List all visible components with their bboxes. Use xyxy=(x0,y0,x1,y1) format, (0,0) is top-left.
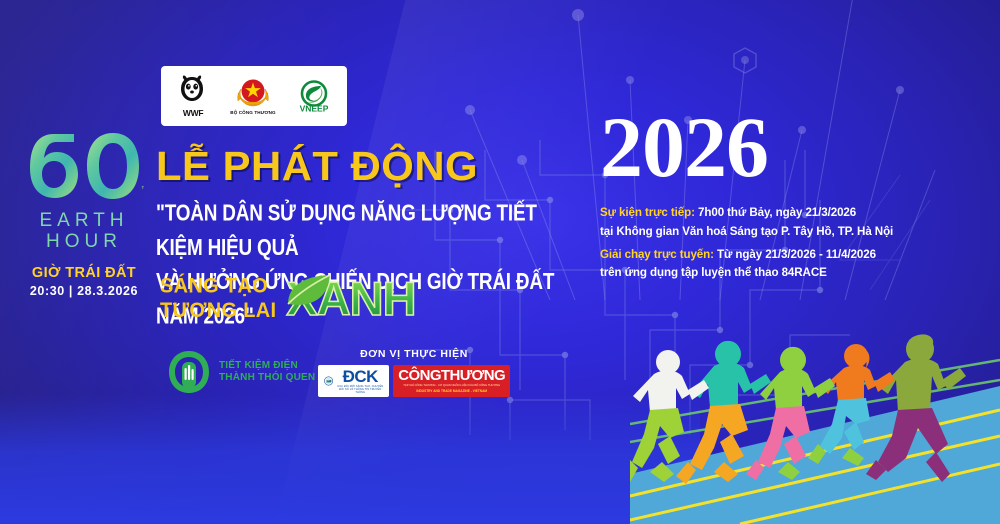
organizers-logo-row: ĐCK ĐCK CỤC ĐỔI MỚI SÁNG TẠO, CHUYỂN ĐỔI… xyxy=(330,365,498,397)
earth-hour-2026-poster: WWF BỘ CÔNG THƯƠNG VNEEP xyxy=(0,0,1000,524)
bo-cong-thuong-logo: BỘ CÔNG THƯƠNG xyxy=(230,77,275,115)
earth-hour-vietnamese-label: GIỜ TRÁI ĐẤT xyxy=(24,265,144,281)
earth-hour-time-label: 20:30 | 28.3.2026 xyxy=(24,284,144,298)
tiet-kiem-dien-logo: TIẾT KIỆM ĐIỆN THÀNH THÓI QUEN xyxy=(166,348,315,396)
event-info-block: Sự kiện trực tiếp: 7h00 thứ Bảy, ngày 21… xyxy=(600,204,900,283)
vneep-logo: VNEEP xyxy=(296,80,332,113)
event-live-label: Sự kiện trực tiếp: xyxy=(600,206,695,219)
slogan-highlight-xanh: XANH xyxy=(286,275,415,322)
vneep-swirl-icon: VNEEP xyxy=(296,80,332,113)
organizers-block: ĐƠN VỊ THỰC HIỆN ĐCK ĐCK CỤC ĐỔI MỚI SÁN… xyxy=(330,348,498,397)
wwf-logo: WWF xyxy=(176,74,210,118)
cong-thuong-subtitle-en: INDUSTRY AND TRADE MAGAZINE - VIETNAM xyxy=(398,389,505,393)
vietnam-emblem-icon xyxy=(234,77,272,109)
svg-text:VNEEP: VNEEP xyxy=(299,103,328,113)
slogan-line1: SÁNG TẠO xyxy=(160,274,276,298)
organizers-title: ĐƠN VỊ THỰC HIỆN xyxy=(330,348,498,360)
event-online-value: Từ ngày 21/3/2026 - 11/4/2026 xyxy=(714,248,876,261)
runners-illustration xyxy=(630,324,1000,524)
background-bottom-fill xyxy=(0,394,700,524)
slogan-line2: TƯƠNG LAI xyxy=(160,299,276,323)
cong-thuong-subtitle: TẠP CHÍ CÔNG THƯƠNG - CƠ QUAN NGÔN LUẬN … xyxy=(398,384,505,388)
dck-logo: ĐCK ĐCK CỤC ĐỔI MỚI SÁNG TẠO, CHUYỂN ĐỔI… xyxy=(318,365,389,397)
svg-text:ĐCK: ĐCK xyxy=(327,381,332,383)
slogan-text: SÁNG TẠO TƯƠNG LAI xyxy=(160,274,276,322)
earth-hour-word-hour: HOUR xyxy=(24,232,144,253)
hand-power-icon xyxy=(166,348,212,396)
partner-logo-bar: WWF BỘ CÔNG THƯƠNG VNEEP xyxy=(161,66,347,126)
earth-hour-word-earth: EARTH xyxy=(24,211,144,232)
dck-subtitle: CỤC ĐỔI MỚI SÁNG TẠO, CHUYỂN ĐỔI SỐ VÀ T… xyxy=(337,385,383,394)
year-2026: 2026 xyxy=(600,104,768,190)
dck-wordmark: ĐCK xyxy=(337,368,383,385)
dck-seal-icon: ĐCK xyxy=(324,371,333,391)
tiet-kiem-dien-text: TIẾT KIỆM ĐIỆN THÀNH THÓI QUEN xyxy=(219,360,315,385)
cong-thuong-wordmark: CÔNGTHƯƠNG xyxy=(398,368,505,383)
headline-subtitle-line1: "TOÀN DÂN SỬ DỤNG NĂNG LƯỢNG TIẾT KIỆM H… xyxy=(156,197,563,265)
event-live-value: 7h00 thứ Bảy, ngày 21/3/2026 xyxy=(695,206,856,219)
earth-hour-60-icon: ™ xyxy=(24,130,144,202)
event-live-line: Sự kiện trực tiếp: 7h00 thứ Bảy, ngày 21… xyxy=(600,204,900,223)
wwf-logo-label: WWF xyxy=(183,108,203,118)
tiet-kiem-dien-line2: THÀNH THÓI QUEN xyxy=(219,372,315,385)
event-online-line: Giải chạy trực tuyến: Từ ngày 21/3/2026 … xyxy=(600,246,900,265)
earth-hour-logo-block: ™ EARTH HOUR GIỜ TRÁI ĐẤT 20:30 | 28.3.2… xyxy=(24,130,144,298)
slogan-block: SÁNG TẠO TƯƠNG LAI XANH xyxy=(160,275,416,322)
event-online-app: trên ứng dụng tập luyện thể thao 84RACE xyxy=(600,264,900,283)
earth-hour-wordmark: EARTH HOUR xyxy=(24,211,144,252)
cong-thuong-logo: CÔNGTHƯƠNG TẠP CHÍ CÔNG THƯƠNG - CƠ QUAN… xyxy=(393,365,510,397)
event-live-place: tại Không gian Văn hoá Sáng tạo P. Tây H… xyxy=(600,223,900,242)
trademark-symbol: ™ xyxy=(141,186,144,193)
headline-main: LỄ PHÁT ĐỘNG xyxy=(156,146,584,187)
panda-icon xyxy=(176,74,210,107)
tiet-kiem-dien-line1: TIẾT KIỆM ĐIỆN xyxy=(219,360,315,373)
bo-cong-thuong-label: BỘ CÔNG THƯƠNG xyxy=(230,110,275,115)
event-online-label: Giải chạy trực tuyến: xyxy=(600,248,714,261)
